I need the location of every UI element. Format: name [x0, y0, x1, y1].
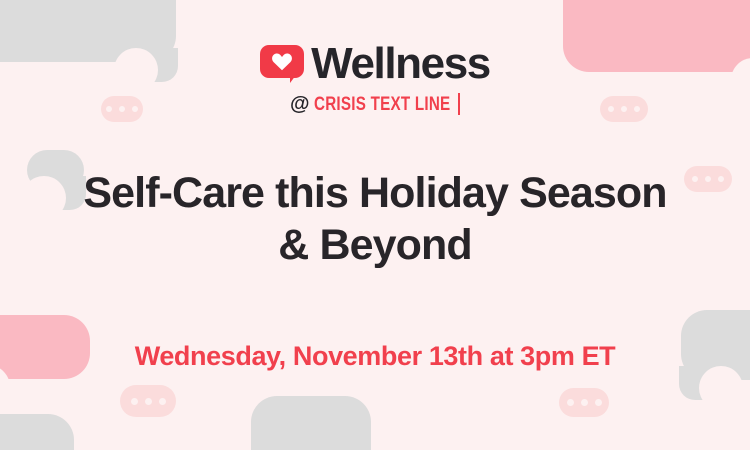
organization-name: CRISIS TEXT LINE: [314, 95, 450, 114]
headline-line-1: Self-Care this Holiday Season: [83, 169, 666, 217]
promo-card: Wellness @ CRISIS TEXT LINE Self-Care th…: [0, 0, 750, 450]
page-title: Self-Care this Holiday Season & Beyond: [25, 167, 725, 272]
event-date: Wednesday, November 13th at 3pm ET: [135, 341, 616, 372]
text-caret-icon: [458, 93, 460, 115]
heart-speech-bubble-icon: [260, 45, 304, 83]
card-content: Wellness @ CRISIS TEXT LINE Self-Care th…: [0, 0, 750, 450]
at-symbol: @: [290, 94, 310, 114]
headline-line-2: & Beyond: [278, 221, 471, 269]
brand-lockup: Wellness @ CRISIS TEXT LINE: [260, 42, 490, 115]
brand-name: Wellness: [311, 42, 490, 86]
brand-row: Wellness: [260, 42, 490, 86]
brand-subtitle: @ CRISIS TEXT LINE: [290, 93, 460, 115]
